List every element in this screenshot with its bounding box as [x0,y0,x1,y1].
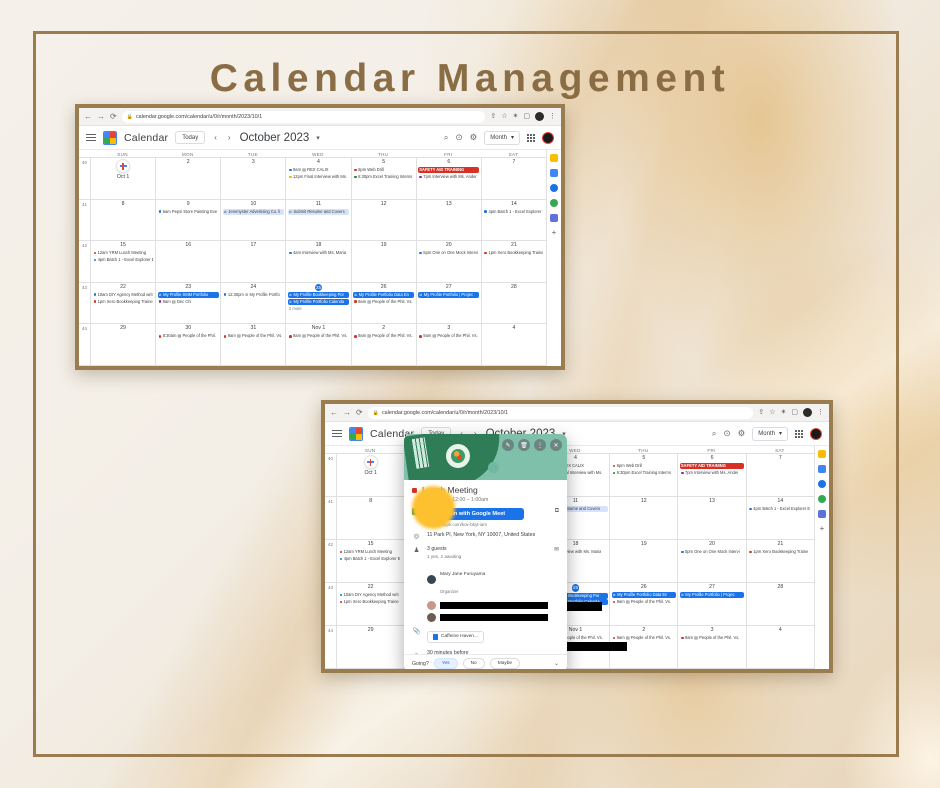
day-cell[interactable]: 19 [351,241,416,282]
day-cell[interactable]: 12 [351,200,416,241]
day-cell[interactable]: 26⊘My Profile Portfolio Data En9am ▤ Peo… [609,583,677,625]
day-number[interactable]: 7 [483,159,544,166]
day-number[interactable]: 27 [680,584,744,591]
day-cell[interactable]: 28 [746,583,814,625]
rsvp-maybe-button[interactable]: Maybe [490,658,520,669]
event-label: SAFETY AID TRAINING [419,167,464,173]
day-number[interactable]: 25 [572,584,580,592]
guest-name: Mary Jane Furuyama [440,572,485,577]
week-row: 4429308:30am ▤ People of the Phil.319am … [79,324,546,366]
event-type-icon: ⊘ [419,292,422,298]
calendar-event[interactable]: 9am ▤ People of the Phil. Vs. [353,333,414,339]
calendar-event[interactable]: 9am ▤ People of the Phil. Vs. [288,333,349,339]
edit-event-icon[interactable]: ✎ [502,439,514,451]
day-number[interactable]: 5 [353,159,414,166]
app-name: Calendar [124,132,168,144]
apps-grid-icon[interactable] [795,430,803,438]
day-number[interactable]: 2 [353,325,414,332]
day-cell[interactable]: Oct 1 [336,454,404,496]
day-cell[interactable]: 1512am YRM Lunch Meeting4pm Batch 1 - Ex… [90,241,155,282]
day-number[interactable]: 28 [748,584,812,591]
event-label: 6:30pm Excel Training Interns [617,470,671,476]
day-cell[interactable]: 96am Pepsi Store Painting Eve [155,200,220,241]
day-number[interactable]: 6 [418,159,479,166]
day-cell[interactable]: 184am Interview with Ms. Maria [285,241,350,282]
event-color-dot [289,252,292,255]
day-cell[interactable]: 4 [746,626,814,668]
event-label: 10am DIY Agency Method writ [344,592,399,598]
calendar-event[interactable]: ⊘Submit Resume and Covers [288,209,349,215]
event-label: My Profile Portfolio | Projec [685,592,734,598]
google-keep-icon[interactable] [818,450,826,458]
day-cell[interactable]: 56pm Web Drill6:30pm Excel Training Inte… [609,454,677,496]
day-number[interactable]: 14 [483,201,544,208]
browser-chrome-toolbar: ← → ⟳ 🔒 calendar.google.com/calendar/u/0… [79,108,561,126]
calendar-event[interactable]: ⊘My Profile Portfolio | Projec [418,292,479,298]
day-number[interactable]: Oct 1 [93,174,154,181]
calendar-event[interactable]: 6pm Web Drill [612,463,676,469]
day-cell[interactable]: 27⊘My Profile Portfolio | Projec [677,583,745,625]
calendar-event[interactable]: ⊘My Profile Portfolio Data En [612,592,676,598]
calendar-event[interactable]: 9am ▤ People of the Phil. Vs. [418,333,479,339]
calendar-event[interactable]: 9am ▤ People of the Phil. Vs. [612,635,676,641]
day-cell[interactable]: 8 [336,497,404,539]
calendar-event[interactable]: 8:30am ▤ People of the Phil. [158,333,219,339]
forward-icon[interactable]: → [343,409,351,417]
event-type-icon: ⊘ [159,292,162,298]
event-label: 9am ▤ People of the Phil. Vs. [685,635,739,641]
rsvp-yes-button[interactable]: Yes [434,658,458,669]
day-cell[interactable]: 39am ▤ People of the Phil. Vs. [677,626,745,668]
day-cell[interactable]: 12 [609,497,677,539]
calendar-event[interactable]: 4pm Batch 1 - Excel Explorer E [483,209,544,215]
google-meet-icon[interactable] [550,214,558,222]
view-selector[interactable]: Month ▾ [484,131,520,145]
calendar-event[interactable]: 9am ▤ People of the Phil. Vs. [680,635,744,641]
week-number: 40 [325,454,336,496]
browser-chrome-toolbar-2: ← → ⟳ 🔒 calendar.google.com/calendar/u/0… [325,404,829,422]
day-cell[interactable]: 19 [609,540,677,582]
menu-icon[interactable]: ⋮ [549,113,556,120]
calendar-event[interactable]: 5pm One on One Mock Intervi [418,250,479,256]
view-selector[interactable]: Month ▾ [752,427,788,441]
attachment-row: 📎 Caffeine Haven... [412,627,559,645]
event-label: My Profile Portfolio Data En [359,292,409,298]
profile-icon[interactable] [535,112,544,121]
day-number[interactable]: 31 [223,325,284,332]
profile-icon[interactable] [803,408,812,417]
day-cell[interactable]: 1512am YRM Lunch Meeting4pm Batch 1 - Ex… [336,540,404,582]
event-label: 9am ▤ People of the Phil. Vs. [228,333,282,339]
day-number[interactable]: 21 [748,541,812,548]
day-number[interactable]: 29 [93,325,154,332]
google-maps-icon[interactable] [550,199,558,207]
calendar-event[interactable]: 1pm Xero Bookkeeping Traine [483,250,544,256]
more-events-link[interactable]: 2 more [288,306,349,311]
day-cell[interactable]: 2412:30pm ⊘ My Profile Portfo [220,283,285,324]
day-cell[interactable]: 10⊘Jeremyster Advertising Co. li [220,200,285,241]
calendar-event[interactable]: 4pm Batch 1 - Excel Explorer E [93,257,154,263]
day-cell[interactable]: 16 [155,241,220,282]
day-number[interactable]: 3 [418,325,479,332]
day-cell[interactable]: Nov 19am ▤ People of the Phil. Vs. [285,324,350,365]
event-label: 4pm Batch 1 - Excel Explorer E [344,556,401,562]
event-details-popup[interactable]: ✎ 🗑 ⋮ ✕ Lunch Meeting October 15 · 12:00… [404,434,567,672]
star-icon[interactable]: ☆ [769,409,775,416]
calendar-event[interactable]: 6:30pm Excel Training Interns [612,470,676,476]
back-icon[interactable]: ← [84,113,92,121]
browser-window-calendar-month[interactable]: ← → ⟳ 🔒 calendar.google.com/calendar/u/0… [75,104,565,370]
day-number[interactable]: Oct 1 [339,470,403,477]
day-cell[interactable]: 29 [90,324,155,365]
side-panel-rail[interactable]: + [546,150,561,366]
day-number[interactable]: 4 [288,159,349,166]
day-number[interactable]: 3 [680,627,744,634]
calendar-event[interactable]: 1pm Xero Bookkeeping Traine [339,599,403,605]
more-options-icon[interactable]: ⋮ [534,439,546,451]
add-addon-icon[interactable]: + [818,525,826,533]
event-color-dot [749,551,752,554]
event-color-dot [354,335,357,338]
calendar-event[interactable]: 10am DIY Agency Method writ [339,592,403,598]
food-plate-icon [444,442,472,470]
help-icon[interactable]: ⊙ [724,428,731,439]
calendar-event[interactable]: 12am YRM Lunch Meeting [339,549,403,555]
day-number[interactable]: 2 [612,627,676,634]
event-color-dot [94,300,97,303]
calendar-app-bar: Calendar Today ‹ › October 2023 ▾ ⌕ ⊙ ⚙ … [79,126,561,150]
day-cell[interactable]: 8 [90,200,155,241]
day-cell[interactable]: 211pm Xero Bookkeeping Traine [481,241,546,282]
day-cell[interactable]: 13 [416,200,481,241]
settings-gear-icon[interactable]: ⚙ [470,132,478,143]
day-number[interactable]: 23 [158,284,219,291]
back-icon[interactable]: ← [330,409,338,417]
extensions-icon[interactable]: ✶ [781,409,787,416]
day-number[interactable]: 20 [680,541,744,548]
next-period-icon[interactable]: › [226,133,233,142]
calendar-event[interactable]: 9am ▤ People of the Phil. Vs. [353,299,414,305]
redaction-bar [440,602,548,609]
event-hero-illustration: ✎ 🗑 ⋮ ✕ [404,434,567,480]
settings-gear-icon[interactable]: ⚙ [738,428,746,439]
calendar-event[interactable]: 12am YRM Lunch Meeting [93,250,154,256]
day-cell[interactable]: 17 [220,241,285,282]
calendar-event[interactable]: 9am ▤ REX CALIX [288,167,349,173]
day-number[interactable]: 17 [223,242,284,249]
day-number[interactable]: 15 [339,541,403,548]
location-row: ◎ 11 Park Pl, New York, NY 10007, United… [412,532,559,541]
day-number[interactable]: 20 [418,242,479,249]
calendar-event[interactable]: ⊘My Profile Portfolio Data En [353,292,414,298]
month-grid[interactable]: SUN MON TUE WED THU FRI SAT 40Oct 12349a… [79,150,546,366]
day-cell[interactable]: 211pm Xero Bookkeeping Traine [746,540,814,582]
calendar-event[interactable]: 7pm Interview with Ms. Ander [418,174,479,180]
delete-event-icon[interactable]: 🗑 [518,439,530,451]
day-number[interactable]: 24 [223,284,284,291]
event-color-dot [224,335,227,338]
google-contacts-icon[interactable] [818,480,826,488]
create-event-plus-icon[interactable] [364,455,378,469]
day-cell[interactable]: 13 [677,497,745,539]
calendar-event[interactable]: 12:30pm ⊘ My Profile Portfo [223,292,284,298]
event-color-dot [681,551,684,554]
day-cell[interactable]: 49am ▤ REX CALIX12pm Final Interview wit… [285,158,350,199]
day-number[interactable]: 30 [158,325,219,332]
google-maps-icon[interactable] [818,495,826,503]
day-number[interactable]: 8 [93,201,154,208]
day-cell[interactable]: 205pm One on One Mock Intervi [416,241,481,282]
calendar-event[interactable]: 6pm Web Drill [353,167,414,173]
view-chevron-down-icon: ▾ [779,430,782,437]
calendar-event[interactable]: SAFETY AID TRAINING [680,463,744,469]
calendar-event[interactable]: ⊘My Profile Portfolio Calenda [288,299,349,305]
event-color-dot [340,594,343,597]
day-cell[interactable]: 205pm One on One Mock Intervi [677,540,745,582]
event-label: 1pm Xero Bookkeeping Traine [98,299,153,305]
avatar[interactable] [542,132,554,144]
day-number[interactable]: 26 [353,284,414,291]
day-cell[interactable]: 7 [481,158,546,199]
day-cell[interactable]: 25⊘My Profile Bookkeeping Por⊘My Profile… [285,283,350,324]
add-addon-icon[interactable]: + [550,229,558,237]
search-icon[interactable]: ⌕ [444,132,449,143]
day-number[interactable]: 21 [483,242,544,249]
forward-icon[interactable]: → [97,113,105,121]
day-number[interactable]: 13 [418,201,479,208]
popup-action-buttons[interactable]: ✎ 🗑 ⋮ ✕ [502,439,562,451]
calendar-event[interactable]: 9am ▤ People of the Phil. Vs. [612,599,676,605]
day-cell[interactable]: 29am ▤ People of the Phil. Vs. [351,324,416,365]
event-label: 9am ▤ People of the Phil. Vs. [358,333,412,339]
day-number[interactable]: 8 [339,498,403,505]
event-color-dot [354,300,357,303]
day-number[interactable]: 15 [93,242,154,249]
day-number[interactable]: 16 [158,242,219,249]
event-color-dot [419,252,422,255]
extensions-icon[interactable]: ✶ [513,113,519,120]
event-label: 9am ▤ REX CALIX [293,167,329,173]
week-row: 421512am YRM Lunch Meeting4pm Batch 1 - … [325,540,814,583]
calendar-event[interactable]: ⊘My Profile SMM Portfolio [158,292,219,298]
event-color-dot [354,169,357,172]
calendar-event[interactable]: 9am ▤ Dec Chi [158,299,219,305]
google-keep-icon[interactable] [550,154,558,162]
week-number: 42 [325,540,336,582]
calendar-event[interactable]: 4pm Batch 1 - Excel Explorer E [339,556,403,562]
day-cell[interactable]: 319am ▤ People of the Phil. Vs. [220,324,285,365]
calendar-event[interactable]: 10am DIY Agency Method writ [93,292,154,298]
create-event-plus-icon[interactable] [116,159,130,173]
day-number[interactable]: 4 [748,627,812,634]
event-label: 6pm Web Drill [617,463,643,469]
day-number[interactable]: Nov 1 [288,325,349,332]
day-cell[interactable]: 6SAFETY AID TRAINING7pm Interview with M… [416,158,481,199]
calendar-event[interactable]: 5pm One on One Mock Intervi [680,549,744,555]
avatar [427,613,436,622]
event-color-dot [613,465,616,468]
day-number[interactable]: 11 [288,201,349,208]
day-cell[interactable]: 144pm Batch 1 - Excel Explorer E [481,200,546,241]
help-icon[interactable]: ⊙ [456,132,463,143]
event-type-icon: ⊘ [354,292,357,298]
close-popup-icon[interactable]: ✕ [550,439,562,451]
day-cell[interactable]: 27⊘My Profile Portfolio | Projec [416,283,481,324]
day-cell[interactable]: 2 [155,158,220,199]
address-bar[interactable]: 🔒 calendar.google.com/calendar/u/0/r/mon… [122,111,486,123]
menu-icon[interactable]: ⋮ [817,409,824,416]
rsvp-prompt: Going? [412,661,429,667]
day-number[interactable]: 25 [315,284,323,292]
event-label: 9am ▤ People of the Phil. Vs. [617,599,671,605]
chrome-right-icons: ⇪ ☆ ✶ ▢ ⋮ [490,112,556,121]
day-number[interactable]: 2 [158,159,219,166]
attachment-clip-icon: 📎 [412,627,421,636]
day-cell[interactable]: 3 [220,158,285,199]
google-tasks-icon[interactable] [550,169,558,177]
week-number: 40 [79,158,90,199]
event-color-dot [484,210,487,213]
reload-icon[interactable]: ⟳ [356,409,363,417]
side-panel-rail-2[interactable]: + [814,446,829,669]
calendar-event[interactable]: 1pm Xero Bookkeeping Traine [748,549,812,555]
guest-role: Organizer [440,589,458,594]
day-cell[interactable]: 2210am DIY Agency Method writ1pm Xero Bo… [90,283,155,324]
calendar-event[interactable]: 1pm Xero Bookkeeping Traine [93,299,154,305]
day-number[interactable]: 22 [339,584,403,591]
month-grid-2[interactable]: SUN MON TUE WED THU FRI SAT 40Oct 12349a… [325,446,814,669]
dow-thu: THU [351,150,416,157]
email-guests-icon[interactable]: ✉ [554,546,559,553]
day-cell[interactable]: Oct 1 [90,158,155,199]
day-number[interactable]: 22 [93,284,154,291]
week-rows: 40Oct 12349am ▤ REX CALIX12pm Final Inte… [79,158,546,366]
day-cell[interactable]: 23⊘My Profile SMM Portfolio9am ▤ Dec Chi [155,283,220,324]
google-calendar-logo-icon [103,131,117,145]
day-number[interactable]: 19 [612,541,676,548]
week-row: 40Oct 12349am ▤ REX CALIX12pm Final Inte… [325,454,814,497]
attachment-chip[interactable]: Caffeine Haven... [427,631,484,643]
calendar-event[interactable]: 6am Pepsi Store Painting Eve [158,209,219,215]
apps-grid-icon[interactable] [527,134,535,142]
previous-period-icon[interactable]: ‹ [212,133,219,142]
calendar-event[interactable]: 6:30pm Excel Training Interns [353,174,414,180]
day-cell[interactable]: 4 [481,324,546,365]
search-icon[interactable]: ⌕ [712,428,717,439]
day-cell[interactable]: 7 [746,454,814,496]
day-number[interactable]: 27 [418,284,479,291]
day-number[interactable]: 10 [223,201,284,208]
address-bar[interactable]: 🔒 calendar.google.com/calendar/u/0/r/mon… [368,407,754,419]
window-icon[interactable]: ▢ [791,409,798,416]
calendar-event[interactable]: ⊘My Profile Bookkeeping Por [288,292,349,298]
day-number[interactable]: 6 [680,455,744,462]
day-number[interactable]: 3 [223,159,284,166]
event-label: 1pm Xero Bookkeeping Traine [753,549,808,555]
day-number[interactable]: 28 [483,284,544,291]
day-cell[interactable]: 29 [336,626,404,668]
event-label: 12:30pm ⊘ My Profile Portfo [228,292,280,298]
week-number: 43 [325,583,336,625]
calendar-event[interactable]: ⊘My Profile Portfolio | Projec [680,592,744,598]
event-color-dot [613,601,616,604]
week-row: 41896am Pepsi Store Painting Eve10⊘Jerem… [79,200,546,242]
calendar-event[interactable]: 7pm Interview with Ms. Ander [680,470,744,476]
day-number[interactable]: 13 [680,498,744,505]
period-chevron-down-icon[interactable]: ▾ [316,134,320,142]
rsvp-chevron-down-icon[interactable]: ⌄ [554,660,559,667]
day-cell[interactable]: 2210am DIY Agency Method writ1pm Xero Bo… [336,583,404,625]
calendar-event[interactable]: SAFETY AID TRAINING [418,167,479,173]
day-cell[interactable]: 308:30am ▤ People of the Phil. [155,324,220,365]
google-contacts-icon[interactable] [550,184,558,192]
day-number[interactable]: 9 [158,201,219,208]
week-row: 421512am YRM Lunch Meeting4pm Batch 1 - … [79,241,546,283]
day-cell[interactable]: 11⊘Submit Resume and Covers [285,200,350,241]
main-menu-icon[interactable] [86,134,96,141]
avatar[interactable] [810,428,822,440]
day-number[interactable]: 7 [748,455,812,462]
day-cell[interactable]: 56pm Web Drill6:30pm Excel Training Inte… [351,158,416,199]
rsvp-no-button[interactable]: No [463,658,485,669]
today-button[interactable]: Today [175,131,205,144]
window-icon[interactable]: ▢ [523,113,530,120]
calendar-event[interactable]: 4am Interview with Ms. Maria [288,250,349,256]
google-meet-icon[interactable] [818,510,826,518]
share-icon[interactable]: ⇪ [490,113,496,120]
url-text: calendar.google.com/calendar/u/0/r/month… [136,114,262,120]
google-calendar-logo-icon [349,427,363,441]
day-cell[interactable]: 26⊘My Profile Portfolio Data En9am ▤ Peo… [351,283,416,324]
day-number[interactable]: 29 [339,627,403,634]
day-number[interactable]: 5 [612,455,676,462]
day-cell[interactable]: 28 [481,283,546,324]
day-number[interactable]: 26 [612,584,676,591]
calendar-event[interactable]: 4pm Batch 1 - Excel Explorer E [748,506,812,512]
event-color-dot [94,252,97,255]
event-location[interactable]: 11 Park Pl, New York, NY 10007, United S… [427,532,559,540]
day-cell[interactable]: 6SAFETY AID TRAINING7pm Interview with M… [677,454,745,496]
page-title: Calendar Management [0,57,940,101]
reload-icon[interactable]: ⟳ [110,113,117,121]
day-number[interactable]: 18 [288,242,349,249]
share-icon[interactable]: ⇪ [758,409,764,416]
event-label: 4am Interview with Ms. Maria [293,250,346,256]
event-color-dot [681,472,684,475]
day-number[interactable]: 14 [748,498,812,505]
event-color-dot [289,335,292,338]
browser-window-event-details[interactable]: ← → ⟳ 🔒 calendar.google.com/calendar/u/0… [321,400,833,673]
day-cell[interactable]: 39am ▤ People of the Phil. Vs. [416,324,481,365]
day-number[interactable]: 12 [353,201,414,208]
day-number[interactable]: 19 [353,242,414,249]
event-label: Jeremyster Advertising Co. li [228,209,280,215]
star-icon[interactable]: ☆ [501,113,507,120]
day-number[interactable]: 4 [483,325,544,332]
event-type-icon: ⊘ [289,292,292,298]
dow-fri: FRI [677,446,745,453]
event-color-swatch [412,488,417,493]
main-menu-icon[interactable] [332,430,342,437]
copy-link-icon[interactable]: ⧉ [555,508,559,515]
day-number[interactable]: 12 [612,498,676,505]
event-label: 6:30pm Excel Training Interns [358,174,412,180]
calendar-event[interactable]: 9am ▤ People of the Phil. Vs. [223,333,284,339]
calendar-event[interactable]: ⊘Jeremyster Advertising Co. li [223,209,284,215]
day-cell[interactable]: 144pm Batch 1 - Excel Explorer E [746,497,814,539]
calendar-event[interactable]: 12pm Final Interview with Ms. [288,174,349,180]
google-tasks-icon[interactable] [818,465,826,473]
